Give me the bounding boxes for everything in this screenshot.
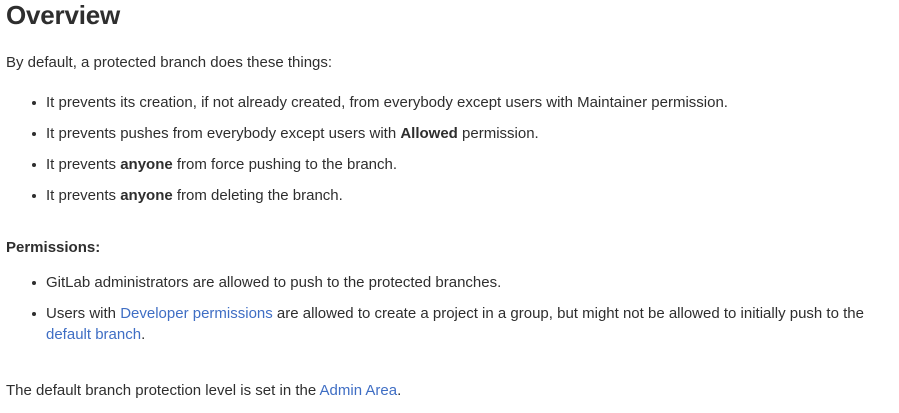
list-item-text: . xyxy=(141,326,145,343)
footer-paragraph: The default branch protection level is s… xyxy=(6,381,401,401)
list-item: It prevents its creation, if not already… xyxy=(0,92,899,113)
list-item-text: It prevents xyxy=(46,187,120,204)
list-item: It prevents anyone from force pushing to… xyxy=(0,154,899,175)
list-item-text: are allowed to create a project in a gro… xyxy=(273,305,864,322)
list-item-text: Users with xyxy=(46,305,120,322)
list-item: It prevents anyone from deleting the bra… xyxy=(0,185,899,206)
permissions-heading: Permissions: xyxy=(6,238,100,258)
inline-link[interactable]: default branch xyxy=(46,326,141,343)
permissions-list: GitLab administrators are allowed to pus… xyxy=(0,272,899,345)
list-item: GitLab administrators are allowed to pus… xyxy=(0,272,899,293)
list-item: It prevents pushes from everybody except… xyxy=(0,123,899,144)
list-item-text: It prevents pushes from everybody except… xyxy=(46,125,400,142)
inline-link[interactable]: Developer permissions xyxy=(120,305,273,322)
list-item-text: It prevents its creation, if not already… xyxy=(46,94,728,111)
emphasis-text: anyone xyxy=(120,156,173,173)
list-item: Users with Developer permissions are all… xyxy=(0,303,899,345)
admin-area-link[interactable]: Admin Area xyxy=(320,382,398,399)
footer-text-before: The default branch protection level is s… xyxy=(6,382,320,399)
page-title: Overview xyxy=(6,0,120,30)
emphasis-text: Allowed xyxy=(400,125,458,142)
list-item-text: permission. xyxy=(458,125,539,142)
intro-paragraph: By default, a protected branch does thes… xyxy=(6,53,332,73)
list-item-text: from force pushing to the branch. xyxy=(173,156,397,173)
footer-text-after: . xyxy=(397,382,401,399)
list-item-text: GitLab administrators are allowed to pus… xyxy=(46,274,501,291)
document-body: Overview By default, a protected branch … xyxy=(0,0,899,413)
list-item-text: from deleting the branch. xyxy=(173,187,343,204)
list-item-text: It prevents xyxy=(46,156,120,173)
protected-branch-behavior-list: It prevents its creation, if not already… xyxy=(0,92,899,206)
emphasis-text: anyone xyxy=(120,187,173,204)
